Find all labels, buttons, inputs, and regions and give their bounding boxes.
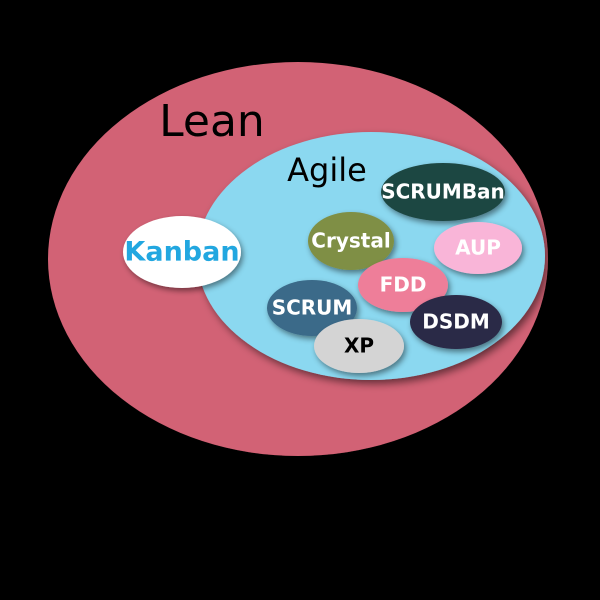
method-chip-aup[interactable]: AUP: [434, 222, 522, 274]
method-label-fdd: FDD: [380, 273, 427, 297]
method-label-crystal: Crystal: [311, 229, 390, 253]
set-lean-label: Lean: [159, 96, 265, 147]
method-chip-xp[interactable]: XP: [314, 319, 404, 373]
method-label-scrum: SCRUM: [272, 296, 353, 320]
method-label-kanban: Kanban: [124, 237, 239, 268]
method-label-dsdm: DSDM: [422, 310, 490, 334]
method-label-scrumban: SCRUMBan: [381, 180, 505, 204]
diagram-canvas: Lean Agile KanbanSCRUMBanCrystalAUPFDDSC…: [0, 0, 600, 600]
method-chip-scrumban[interactable]: SCRUMBan: [381, 163, 505, 221]
method-chip-crystal[interactable]: Crystal: [308, 212, 394, 270]
method-chip-dsdm[interactable]: DSDM: [410, 295, 502, 349]
method-chip-kanban[interactable]: Kanban: [123, 216, 241, 288]
set-agile-label: Agile: [287, 151, 367, 189]
method-label-xp: XP: [344, 334, 374, 358]
venn-diagram: Lean Agile KanbanSCRUMBanCrystalAUPFDDSC…: [0, 0, 600, 600]
method-label-aup: AUP: [455, 236, 501, 260]
